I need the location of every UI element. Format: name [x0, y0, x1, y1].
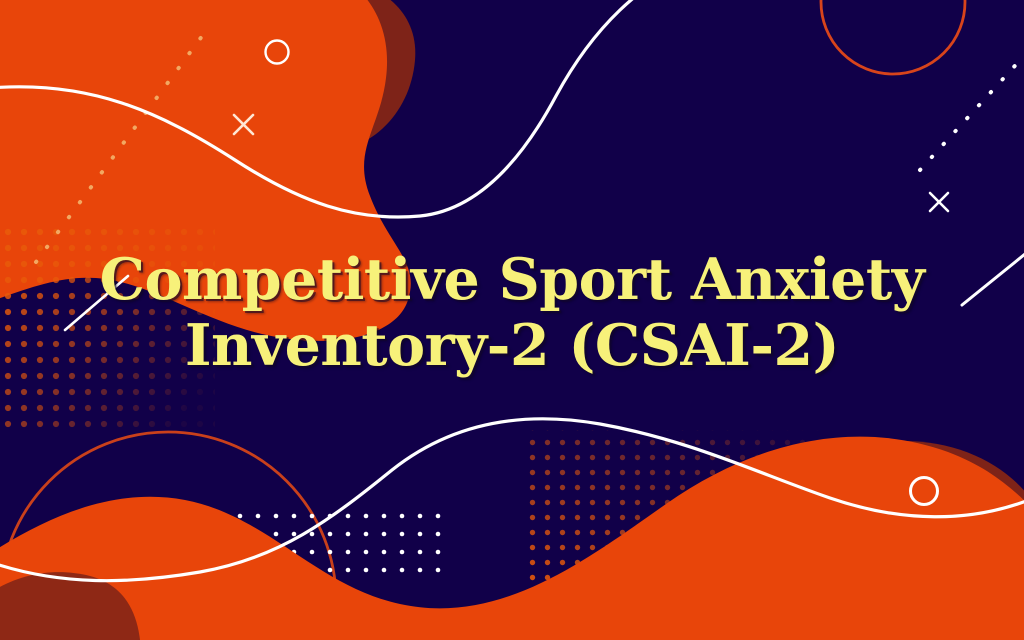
banner-canvas: Competitive Sport Anxiety Inventory-2 (C…	[0, 0, 1024, 640]
decorative-artwork	[0, 0, 1024, 640]
halftone-dots-left	[0, 228, 215, 428]
